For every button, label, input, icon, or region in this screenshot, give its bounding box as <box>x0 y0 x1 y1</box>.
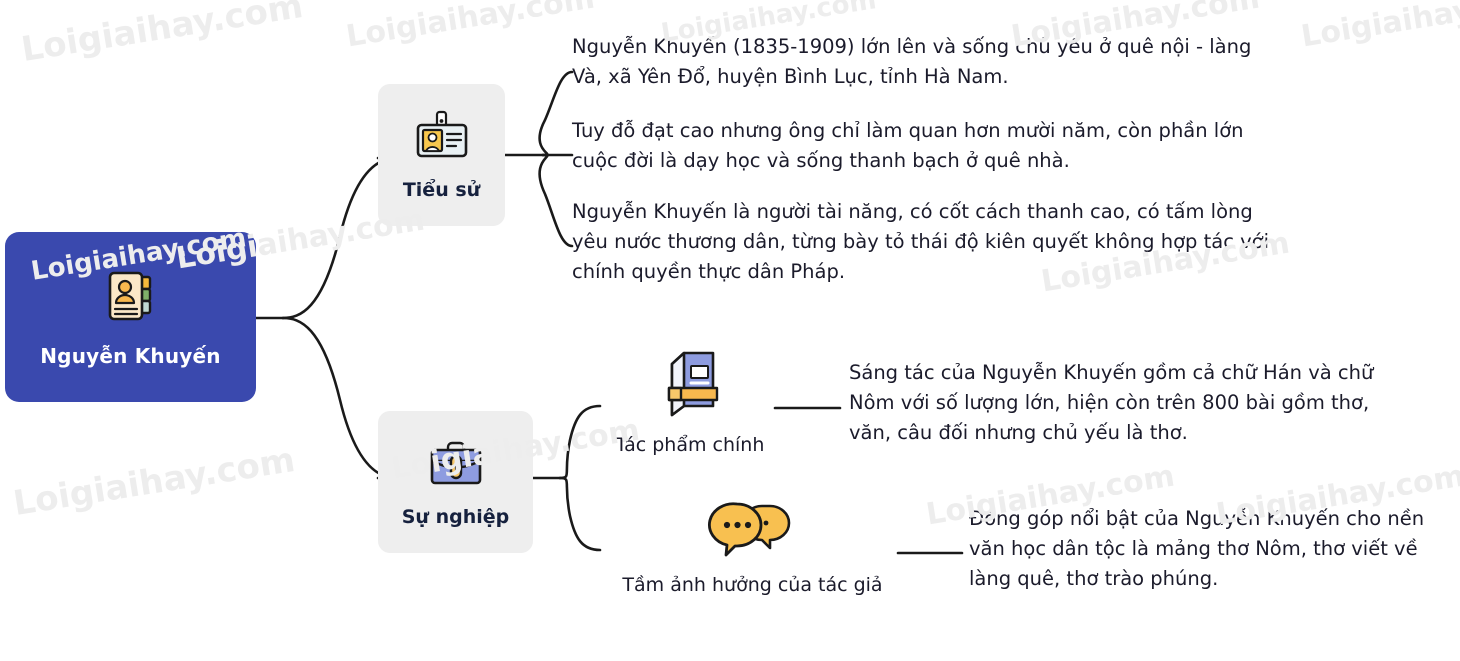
branch-node-su-nghiep[interactable]: Sự nghiệp <box>378 411 533 553</box>
branch-node-tieu-su[interactable]: Tiểu sử <box>378 84 505 226</box>
root-node-label: Nguyễn Khuyến <box>40 344 221 368</box>
leaf-caption: Tầm ảnh hưởng của tác giả <box>622 574 882 596</box>
leaf-tam-anh-huong[interactable]: Tầm ảnh hưởng của tác giả <box>600 498 905 596</box>
leaf-tac-pham-chinh[interactable]: Tác phẩm chính <box>605 348 775 456</box>
mindmap-canvas: Loigiaihay.com Loigiaihay.com Loigiaihay… <box>0 0 1460 661</box>
speech-bubbles-icon <box>707 498 799 564</box>
root-node-nguyen-khuyen[interactable]: Nguyễn Khuyến <box>5 232 256 402</box>
id-badge-icon <box>411 109 473 171</box>
branch-node-label: Sự nghiệp <box>402 506 509 528</box>
contact-card-icon <box>100 266 162 332</box>
bio-text-1: Nguyễn Khuyến (1835-1909) lớn lên và sốn… <box>572 32 1287 92</box>
career-text-1: Sáng tác của Nguyễn Khuyến gồm cả chữ Há… <box>849 358 1384 448</box>
career-text-2: Đóng góp nổi bật của Nguyễn Khuyến cho n… <box>969 504 1439 594</box>
bio-text-2: Tuy đỗ đạt cao nhưng ông chỉ làm quan hơ… <box>572 116 1282 176</box>
bio-text-3: Nguyễn Khuyến là người tài năng, có cốt … <box>572 197 1277 287</box>
briefcase-icon <box>425 436 487 498</box>
branch-node-label: Tiểu sử <box>403 179 480 201</box>
leaf-caption: Tác phẩm chính <box>616 434 765 456</box>
book-icon <box>659 348 721 424</box>
